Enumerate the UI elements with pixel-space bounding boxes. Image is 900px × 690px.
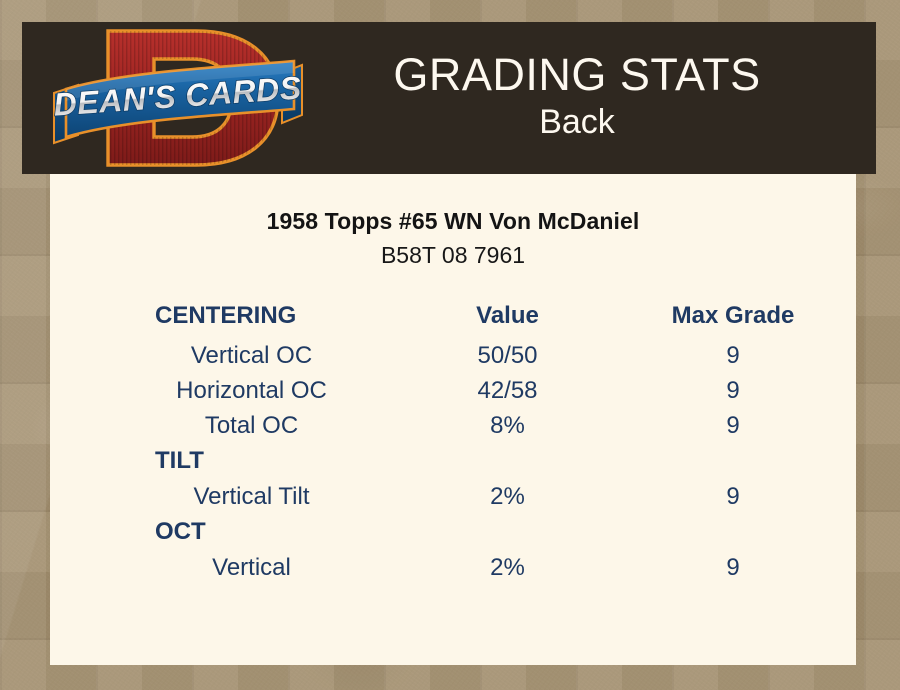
row-label: Vertical Tilt bbox=[50, 483, 405, 518]
table-row: Total OC 8% 9 bbox=[50, 412, 856, 447]
grading-stats-table: CENTERING Value Max Grade Vertical OC 50… bbox=[50, 302, 856, 589]
table-row: Vertical Tilt 2% 9 bbox=[50, 483, 856, 518]
content-panel: 1958 Topps #65 WN Von McDaniel B58T 08 7… bbox=[50, 174, 856, 665]
row-value: 42/58 bbox=[405, 377, 610, 412]
row-max-grade: 9 bbox=[610, 377, 856, 412]
row-max-grade: 9 bbox=[610, 412, 856, 447]
section-heading-row: OCT bbox=[50, 518, 856, 554]
grading-stats-page: DEAN'S CARDS DEAN'S CARDS D GRADING STAT… bbox=[0, 0, 900, 690]
column-header-centering: CENTERING bbox=[50, 302, 405, 342]
table-row: Horizontal OC 42/58 9 bbox=[50, 377, 856, 412]
row-max-grade: 9 bbox=[610, 554, 856, 589]
row-label: Horizontal OC bbox=[50, 377, 405, 412]
card-title: 1958 Topps #65 WN Von McDaniel bbox=[50, 208, 856, 235]
deans-cards-logo[interactable]: DEAN'S CARDS DEAN'S CARDS D bbox=[46, 23, 308, 173]
row-value: 8% bbox=[405, 412, 610, 447]
section-heading-row: TILT bbox=[50, 447, 856, 483]
row-max-grade: 9 bbox=[610, 483, 856, 518]
column-header-max-grade: Max Grade bbox=[610, 302, 856, 342]
deans-cards-logo-icon: DEAN'S CARDS bbox=[46, 23, 308, 173]
card-id: B58T 08 7961 bbox=[50, 242, 856, 269]
header-titles: GRADING STATS Back bbox=[308, 49, 876, 143]
section-heading-tilt: TILT bbox=[50, 447, 856, 483]
page-subtitle: Back bbox=[308, 101, 846, 143]
section-heading-oct: OCT bbox=[50, 518, 856, 554]
header-bar: DEAN'S CARDS DEAN'S CARDS D GRADING STAT… bbox=[22, 22, 876, 174]
row-value: 50/50 bbox=[405, 342, 610, 377]
column-header-value: Value bbox=[405, 302, 610, 342]
table-body: Vertical OC 50/50 9 Horizontal OC 42/58 … bbox=[50, 342, 856, 589]
row-label: Vertical bbox=[50, 554, 405, 589]
table-header-row: CENTERING Value Max Grade bbox=[50, 302, 856, 342]
row-value: 2% bbox=[405, 554, 610, 589]
row-label: Vertical OC bbox=[50, 342, 405, 377]
row-value: 2% bbox=[405, 483, 610, 518]
row-max-grade: 9 bbox=[610, 342, 856, 377]
table-row: Vertical OC 50/50 9 bbox=[50, 342, 856, 377]
page-title: GRADING STATS bbox=[308, 49, 846, 101]
table-row: Vertical 2% 9 bbox=[50, 554, 856, 589]
row-label: Total OC bbox=[50, 412, 405, 447]
